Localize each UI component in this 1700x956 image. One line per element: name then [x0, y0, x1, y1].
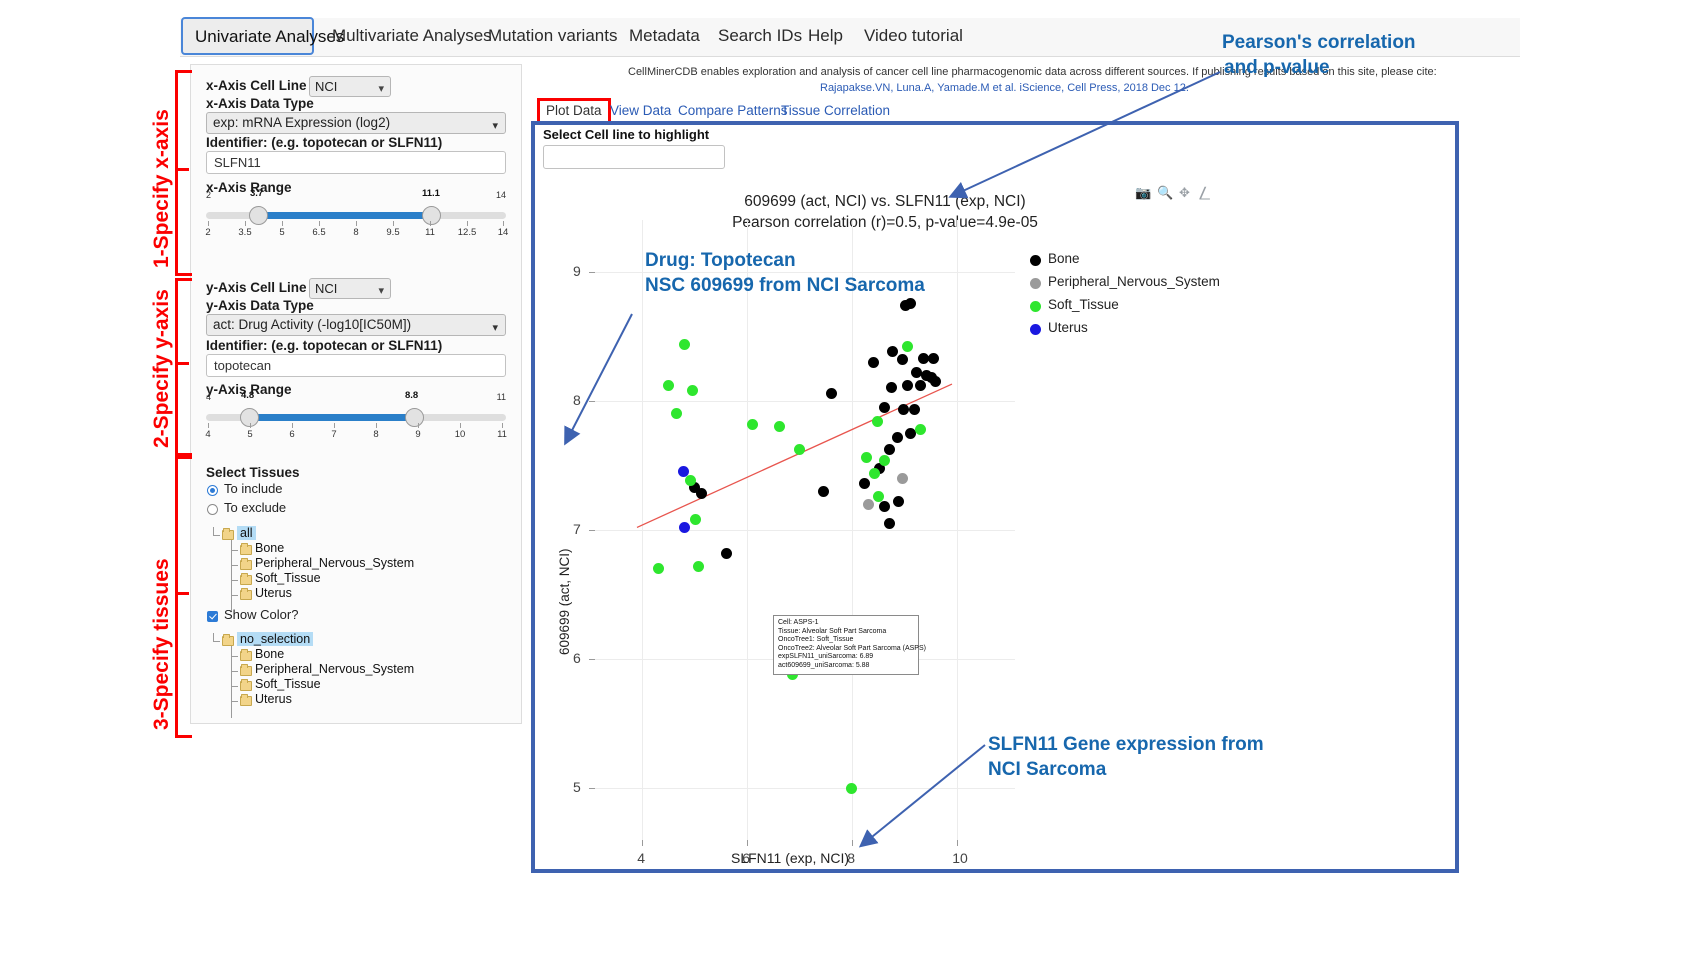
drug-annotation-line2: NSC 609699 from NCI Sarcoma [645, 273, 925, 298]
x-tick-label: 14 [498, 227, 509, 238]
x-tick-mark [747, 840, 748, 846]
scatter-point[interactable] [884, 444, 895, 455]
legend-dot-soft-tissue [1030, 301, 1041, 312]
camera-icon[interactable]: 📷 [1135, 185, 1151, 201]
y-tick-text: 7 [573, 521, 581, 537]
slider-fill [249, 414, 413, 421]
scatter-point[interactable] [653, 563, 664, 574]
scatter-point[interactable] [905, 428, 916, 439]
y-tick-label: 5 [247, 429, 252, 440]
x-tick-label: 8 [353, 227, 358, 238]
y-tick-label: 8 [373, 429, 378, 440]
y-range-low-value: 4.8 [241, 390, 254, 401]
x-tick-mark [957, 840, 958, 846]
pearson-annotation-line2: and p-value [1224, 55, 1416, 80]
x-range-low-handle[interactable] [249, 206, 268, 225]
radio-to-include-label: To include [224, 481, 283, 496]
step1-brace-tick [175, 168, 189, 171]
scatter-point[interactable] [826, 388, 837, 399]
x-axis-identifier-label: Identifier: (e.g. topotecan or SLFN11) [206, 135, 442, 150]
x-tick-text: 10 [952, 850, 968, 866]
tree-node-bone[interactable]: Bone [255, 541, 284, 555]
x-tick-label: 6.5 [312, 227, 325, 238]
y-axis-data-type-label: y-Axis Data Type [206, 298, 314, 313]
x-tick-text: 4 [637, 850, 645, 866]
tree-node-peripheral-nervous-system[interactable]: Peripheral_Nervous_System [255, 556, 414, 570]
x-tick-mark [852, 840, 853, 846]
y-tick-text: 9 [573, 263, 581, 279]
x-tick-label: 12.5 [458, 227, 477, 238]
x-tick-label: 9.5 [386, 227, 399, 238]
tree-node-soft-tissue[interactable]: Soft_Tissue [255, 571, 321, 585]
select-tissues-title: Select Tissues [206, 465, 300, 480]
x-axis-range-slider[interactable]: 2 14 3.7 11.1 2 3.5 5 6.5 8 9.5 11 12.5 … [206, 196, 506, 241]
chevron-down-icon: ▾ [378, 80, 384, 99]
scatter-point[interactable] [869, 468, 880, 479]
gene-annotation-line2: NCI Sarcoma [988, 757, 1264, 782]
scatter-point[interactable] [893, 496, 904, 507]
y-range-min-label: 4 [206, 392, 211, 402]
folder-icon [240, 666, 252, 676]
legend-dot-uterus [1030, 324, 1041, 335]
select-value: NCI [315, 79, 337, 94]
scatter-point[interactable] [915, 380, 926, 391]
scatter-point[interactable] [902, 380, 913, 391]
pearson-annotation: Pearson's correlation and p-value [1222, 30, 1416, 80]
scatter-point[interactable] [696, 488, 707, 499]
gene-annotation: SLFN11 Gene expression from NCI Sarcoma [988, 732, 1264, 782]
tab-label: Mutation variants [488, 26, 617, 45]
scatter-point[interactable] [897, 354, 908, 365]
y-range-max-label: 11 [497, 392, 506, 402]
drug-annotation-line1: Drug: Topotecan [645, 248, 925, 273]
folder-icon [240, 696, 252, 706]
step1-label: 1-Specify x-axis [150, 109, 174, 268]
slider-fill [258, 212, 430, 219]
scatter-point[interactable] [918, 353, 929, 364]
tab-label: Metadata [629, 26, 700, 45]
step2-label: 2-Specify y-axis [150, 289, 174, 448]
chevron-down-icon: ▾ [492, 318, 498, 338]
zoom-icon[interactable]: 🔍 [1157, 185, 1173, 201]
scatter-point[interactable] [886, 382, 897, 393]
tree2-node-bone[interactable]: Bone [255, 647, 284, 661]
tree-node-no-selection[interactable]: no_selection [237, 632, 313, 646]
x-axis-title: SLFN11 (exp, NCI) [731, 850, 849, 866]
y-axis-identifier-input[interactable]: topotecan [206, 354, 506, 377]
x-tick-mark [642, 840, 643, 846]
step3-label: 3-Specify tissues [150, 558, 174, 730]
y-tick-text: 5 [573, 779, 581, 795]
y-axis-range-slider[interactable]: 4 11 4.8 8.8 4 5 6 7 8 9 10 11 [206, 398, 506, 443]
radio-to-exclude-label: To exclude [224, 500, 286, 515]
scatter-point[interactable] [868, 357, 879, 368]
y-axis-title: 609699 (act, NCI) [557, 548, 572, 655]
x-axis-identifier-input[interactable]: SLFN11 [206, 151, 506, 174]
autoscale-icon[interactable]: ⎳ [1199, 185, 1210, 201]
select-value: act: Drug Activity (-log10[IC50M]) [213, 317, 411, 332]
y-tick-label: 7 [331, 429, 336, 440]
x-range-min-label: 2 [206, 190, 211, 200]
legend-label-soft-tissue[interactable]: Soft_Tissue [1048, 297, 1119, 312]
tree-node-label: no_selection [237, 632, 313, 646]
step3-brace [175, 456, 192, 738]
y-range-high-value: 8.8 [405, 390, 418, 401]
scatter-point[interactable] [679, 339, 690, 350]
x-tick-label: 5 [279, 227, 284, 238]
scatter-point[interactable] [873, 491, 884, 502]
scatter-point[interactable] [879, 455, 890, 466]
folder-icon [240, 545, 252, 555]
show-color-checkbox[interactable] [207, 611, 218, 622]
y-tick-label: 9 [415, 429, 420, 440]
legend-label-peripheral-nervous-system[interactable]: Peripheral_Nervous_System [1048, 274, 1220, 289]
scatter-point[interactable] [897, 473, 908, 484]
scatter-point[interactable] [663, 380, 674, 391]
subtab-compare-patterns[interactable]: Compare Patterns [678, 103, 788, 118]
scatter-point[interactable] [928, 353, 939, 364]
citation-link[interactable]: Rajapakse.VN, Luna.A, Yamade.M et al. iS… [820, 82, 1189, 94]
pearson-annotation-line1: Pearson's correlation [1222, 30, 1416, 55]
plot-title: 609699 (act, NCI) vs. SLFN11 (exp, NCI) [655, 193, 1115, 211]
scatter-point[interactable] [887, 346, 898, 357]
folder-icon [240, 560, 252, 570]
x-axis-range-label: x-Axis Range [206, 180, 292, 195]
y-tick-text: 8 [573, 392, 581, 408]
select-value: NCI [315, 281, 337, 296]
pan-icon[interactable]: ✥ [1179, 185, 1190, 201]
tab-univariate-analyses[interactable]: Univariate Analyses [181, 17, 314, 55]
select-value: exp: mRNA Expression (log2) [213, 115, 390, 130]
legend-label-bone[interactable]: Bone [1048, 251, 1080, 266]
x-range-high-value: 11.1 [422, 188, 440, 199]
tab-label: Multivariate Analyses [332, 26, 492, 45]
scatter-point[interactable] [884, 518, 895, 529]
radio-to-include[interactable] [207, 485, 218, 496]
scatter-point[interactable] [747, 419, 758, 430]
y-tick-label: 10 [455, 429, 466, 440]
radio-to-exclude[interactable] [207, 504, 218, 515]
gene-annotation-line1: SLFN11 Gene expression from [988, 732, 1264, 757]
legend-label-uterus[interactable]: Uterus [1048, 320, 1088, 335]
trendline [595, 220, 1015, 840]
x-range-max-label: 14 [496, 190, 506, 200]
folder-icon [222, 530, 234, 540]
folder-icon [240, 575, 252, 585]
tab-label: Video tutorial [864, 26, 963, 45]
x-axis-cell-line-set-select[interactable]: NCI ▾ [309, 76, 391, 97]
scatter-point[interactable] [721, 548, 732, 559]
show-color-label: Show Color? [224, 607, 298, 622]
tree-node-uterus[interactable]: Uterus [255, 586, 292, 600]
tree2-node-uterus[interactable]: Uterus [255, 692, 292, 706]
controls-sidebar: x-Axis Cell Line Set NCI ▾ x-Axis Data T… [190, 64, 522, 724]
scatter-point[interactable] [892, 432, 903, 443]
step2-brace-tick [175, 362, 189, 365]
tab-metadata[interactable]: Metadata [617, 18, 712, 56]
tooltip-line: OncoTree2: Alveolar Soft Part Sarcoma (A… [778, 645, 914, 654]
x-tick-label: 3.5 [238, 227, 251, 238]
legend-dot-peripheral-nervous-system [1030, 278, 1041, 289]
folder-icon [240, 681, 252, 691]
tree2-node-soft-tissue[interactable]: Soft_Tissue [255, 677, 321, 691]
y-range-high-handle[interactable] [405, 408, 424, 427]
step3-brace-tick [175, 592, 189, 595]
x-tick-label: 11 [425, 227, 435, 238]
step1-brace [175, 70, 192, 276]
y-tick-text: 6 [573, 650, 581, 666]
scatter-point[interactable] [902, 341, 913, 352]
tab-label: Search IDs [718, 26, 802, 45]
y-tick-label: 6 [289, 429, 294, 440]
scatter-point[interactable] [930, 376, 941, 387]
scatter-point[interactable] [915, 424, 926, 435]
tree-node-label: all [237, 526, 256, 540]
subtab-plot-data[interactable]: Plot Data [546, 103, 602, 118]
tab-label: Help [808, 26, 843, 45]
highlight-input[interactable] [543, 145, 725, 169]
folder-icon [240, 651, 252, 661]
x-axis-data-type-label: x-Axis Data Type [206, 96, 314, 111]
step2-brace [175, 278, 192, 456]
x-tick-label: 2 [205, 227, 210, 238]
scatter-point[interactable] [900, 300, 911, 311]
tooltip-line: Cell: ASPS-1 [778, 619, 914, 628]
tab-mutation-variants[interactable]: Mutation variants [476, 18, 629, 56]
folder-icon [240, 590, 252, 600]
tab-help[interactable]: Help [796, 18, 855, 56]
y-tick-label: 4 [205, 429, 210, 440]
x-axis-data-type-select[interactable]: exp: mRNA Expression (log2) ▾ [206, 112, 506, 134]
input-value: topotecan [214, 358, 271, 373]
chevron-down-icon: ▾ [378, 282, 384, 301]
y-axis-data-type-select[interactable]: act: Drug Activity (-log10[IC50M]) ▾ [206, 314, 506, 336]
tooltip-line: OncoTree1: Soft_Tissue [778, 636, 914, 645]
scatter-point[interactable] [679, 522, 690, 533]
subtab-tissue-correlation[interactable]: Tissue Correlation [781, 103, 890, 118]
x-range-high-handle[interactable] [422, 206, 441, 225]
y-axis-cell-line-set-select[interactable]: NCI ▾ [309, 278, 391, 299]
drug-annotation: Drug: Topotecan NSC 609699 from NCI Sarc… [645, 248, 925, 298]
y-tick-label: 11 [497, 429, 507, 440]
tooltip-line: expSLFN11_uniSarcoma: 6.89 [778, 653, 914, 662]
y-axis-identifier-label: Identifier: (e.g. topotecan or SLFN11) [206, 338, 442, 353]
tooltip-line: Tissue: Alveolar Soft Part Sarcoma [778, 628, 914, 637]
scatter-point[interactable] [863, 499, 874, 510]
tooltip-line: act609699_uniSarcoma: 5.88 [778, 662, 914, 671]
chevron-down-icon: ▾ [492, 116, 498, 136]
folder-icon [222, 636, 234, 646]
scatter-point[interactable] [911, 367, 922, 378]
scatter-point[interactable] [872, 416, 883, 427]
legend-dot-bone [1030, 255, 1041, 266]
tree-node-all[interactable]: all [237, 526, 256, 540]
highlight-label: Select Cell line to highlight [543, 127, 709, 142]
tab-video-tutorial[interactable]: Video tutorial [852, 18, 975, 56]
tree2-node-peripheral-nervous-system[interactable]: Peripheral_Nervous_System [255, 662, 414, 676]
scatter-point[interactable] [846, 783, 857, 794]
subtab-view-data[interactable]: View Data [610, 103, 671, 118]
x-range-low-value: 3.7 [250, 188, 263, 199]
point-tooltip: Cell: ASPS-1 Tissue: Alveolar Soft Part … [773, 615, 919, 675]
input-value: SLFN11 [214, 155, 261, 170]
